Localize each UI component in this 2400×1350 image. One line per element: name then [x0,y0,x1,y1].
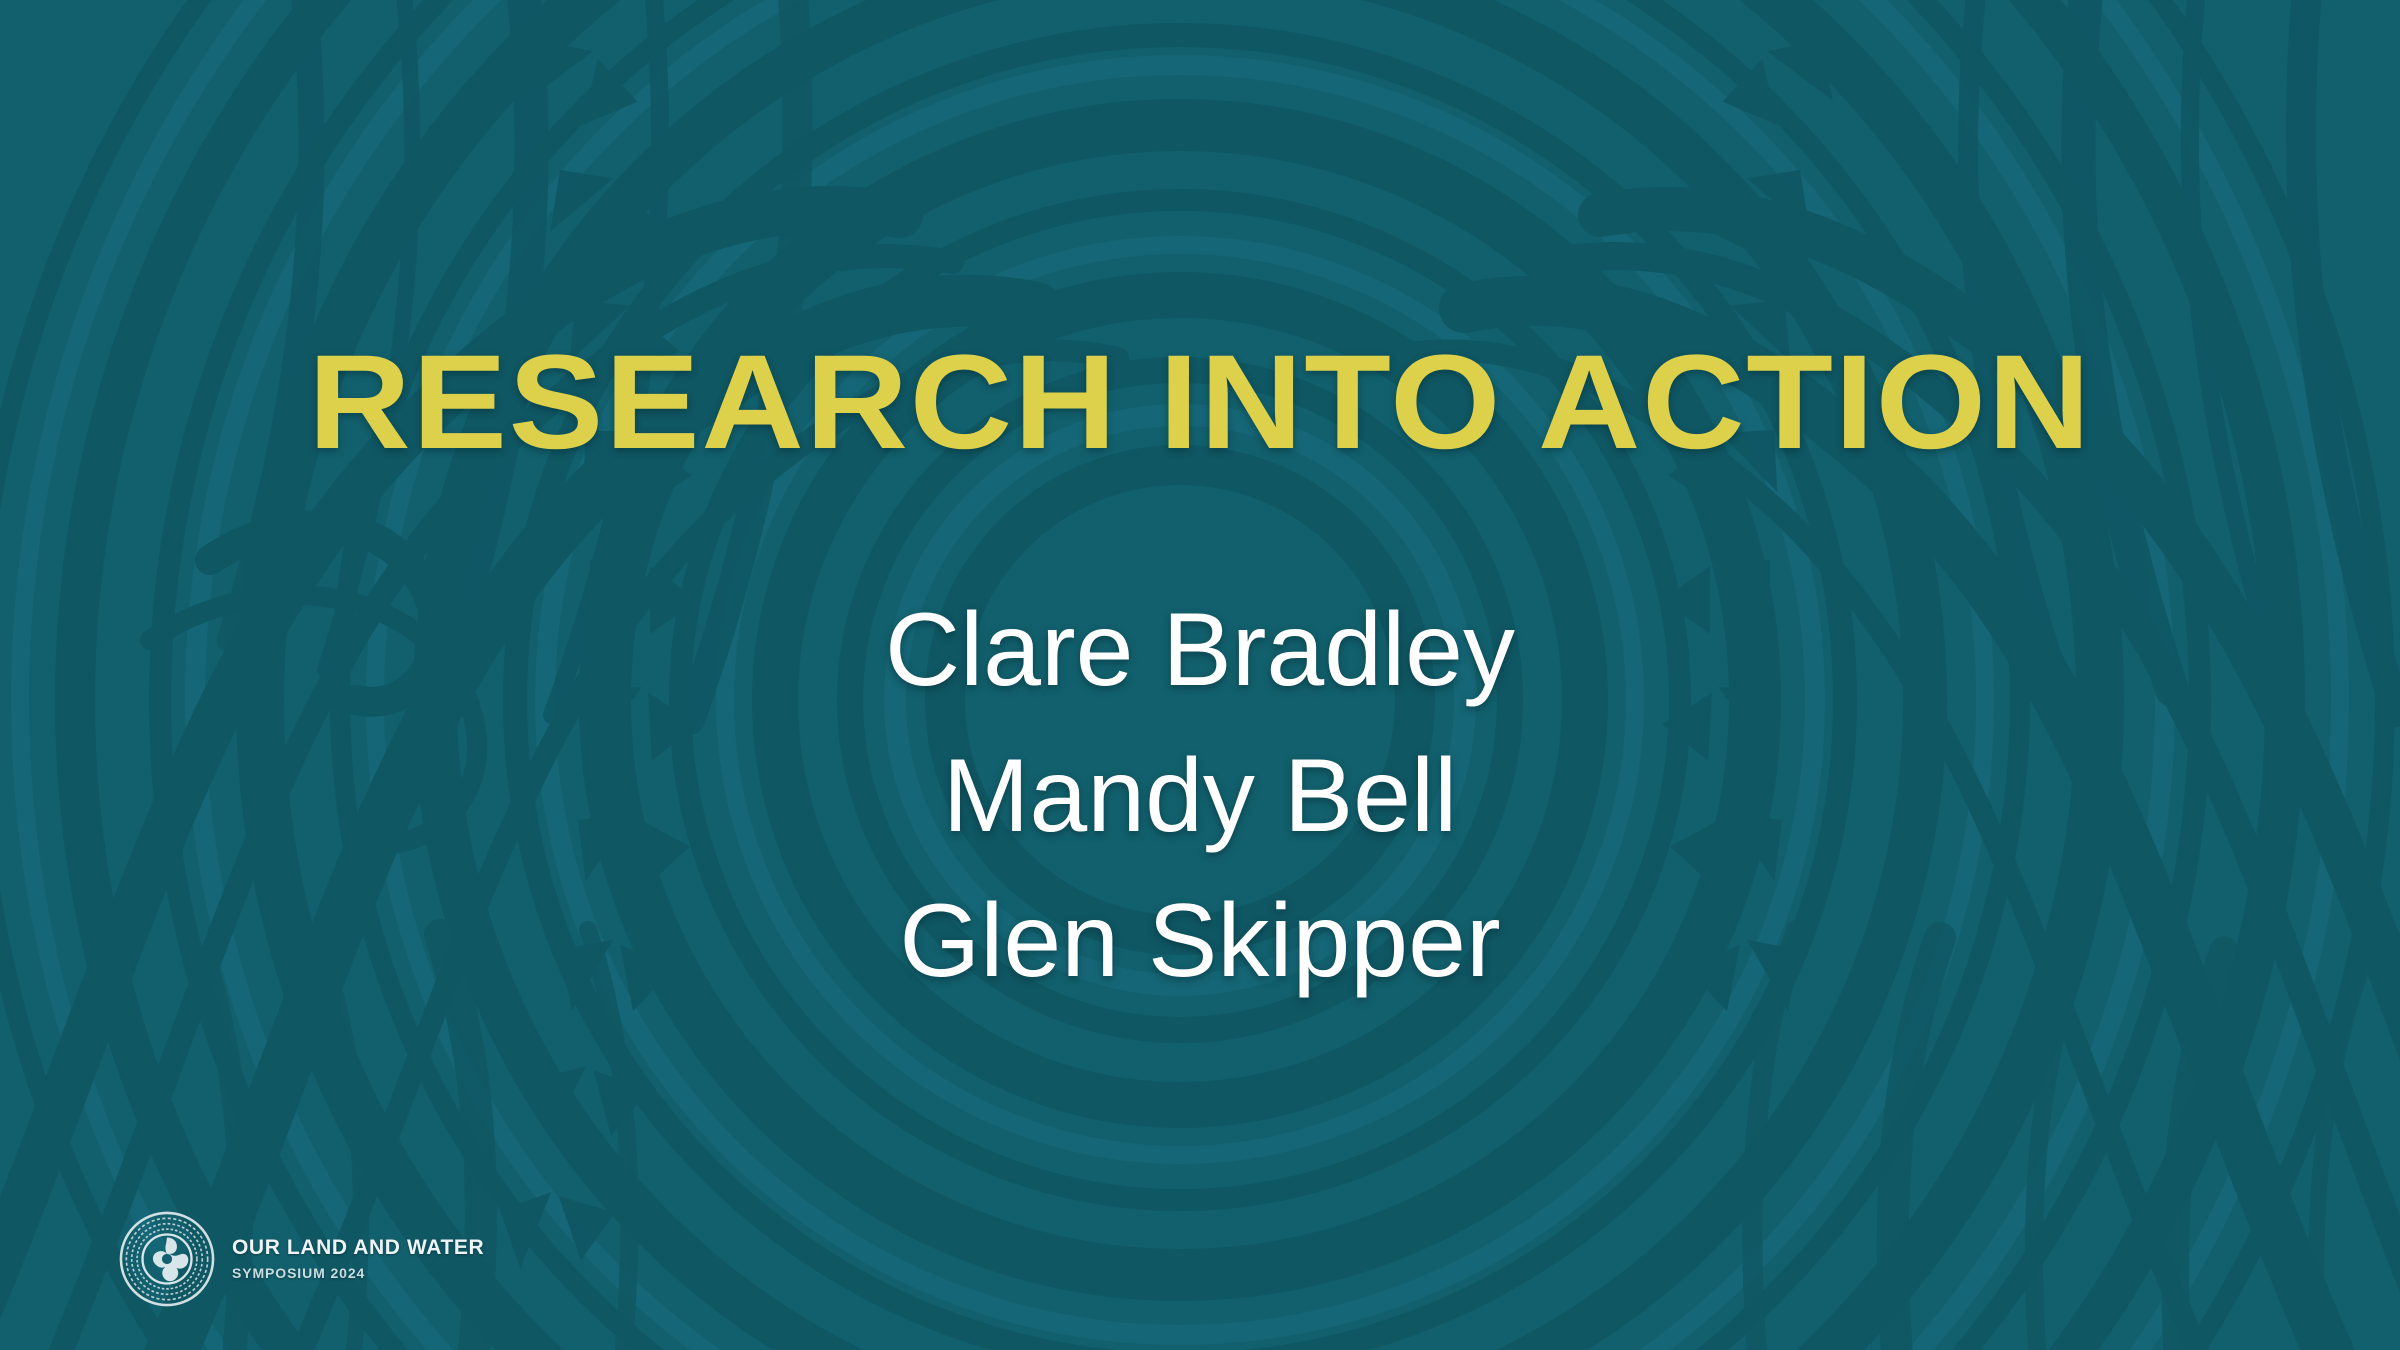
brand-event-subtitle: SYMPOSIUM 2024 [232,1265,484,1281]
presentation-slide: RESEARCH INTO ACTION Clare Bradley Mandy… [0,0,2400,1350]
title-block: RESEARCH INTO ACTION [0,332,2400,474]
presenter-names-list: Clare Bradley Mandy Bell Glen Skipper [0,578,2400,1015]
presenter-name: Glen Skipper [0,869,2400,1015]
presenter-name: Mandy Bell [0,724,2400,870]
brand-logo-lockup: OUR LAND AND WATER SYMPOSIUM 2024 [118,1210,484,1308]
presenter-name: Clare Bradley [0,578,2400,724]
brand-name: OUR LAND AND WATER [232,1236,484,1260]
page-title: RESEARCH INTO ACTION [0,332,2400,474]
brand-logo-text: OUR LAND AND WATER SYMPOSIUM 2024 [232,1236,484,1283]
our-land-and-water-koru-roundel-icon [118,1210,216,1308]
